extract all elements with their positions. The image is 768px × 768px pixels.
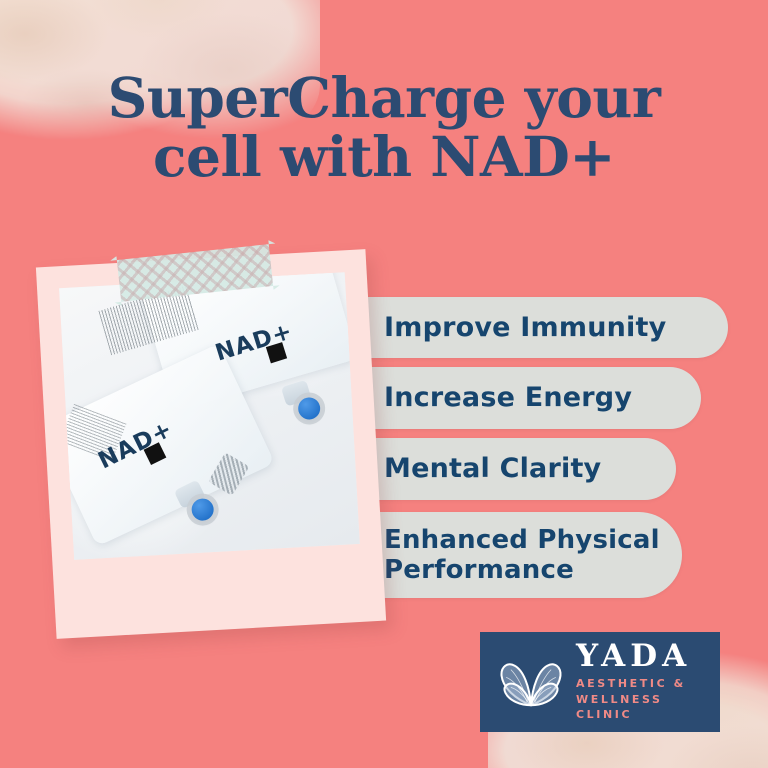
benefit-pill: Enhanced Physical Performance [332, 512, 682, 598]
benefit-label: Enhanced Physical Performance [332, 525, 678, 585]
butterfly-icon [492, 651, 570, 713]
brand-logo: YADA AESTHETIC & WELLNESS CLINIC [480, 632, 720, 732]
benefit-pill: Increase Energy [332, 367, 701, 429]
headline-line-2: cell with NAD+ [60, 127, 708, 186]
headline-line-1: SuperCharge your [108, 65, 661, 130]
product-photo: NAD+ NAD+ [59, 272, 360, 560]
polaroid-photo-frame: NAD+ NAD+ [36, 249, 386, 639]
poster-canvas: SuperCharge your cell with NAD+ Improve … [0, 0, 768, 768]
logo-brand-name: YADA [576, 641, 720, 672]
headline: SuperCharge your cell with NAD+ [60, 68, 708, 187]
benefit-label: Increase Energy [332, 382, 650, 413]
benefit-pill: Improve Immunity [332, 297, 728, 358]
logo-tagline: AESTHETIC & WELLNESS CLINIC [576, 676, 720, 724]
logo-text-block: YADA AESTHETIC & WELLNESS CLINIC [576, 641, 720, 724]
benefit-pill: Mental Clarity [332, 438, 676, 500]
benefit-label: Improve Immunity [332, 312, 684, 343]
